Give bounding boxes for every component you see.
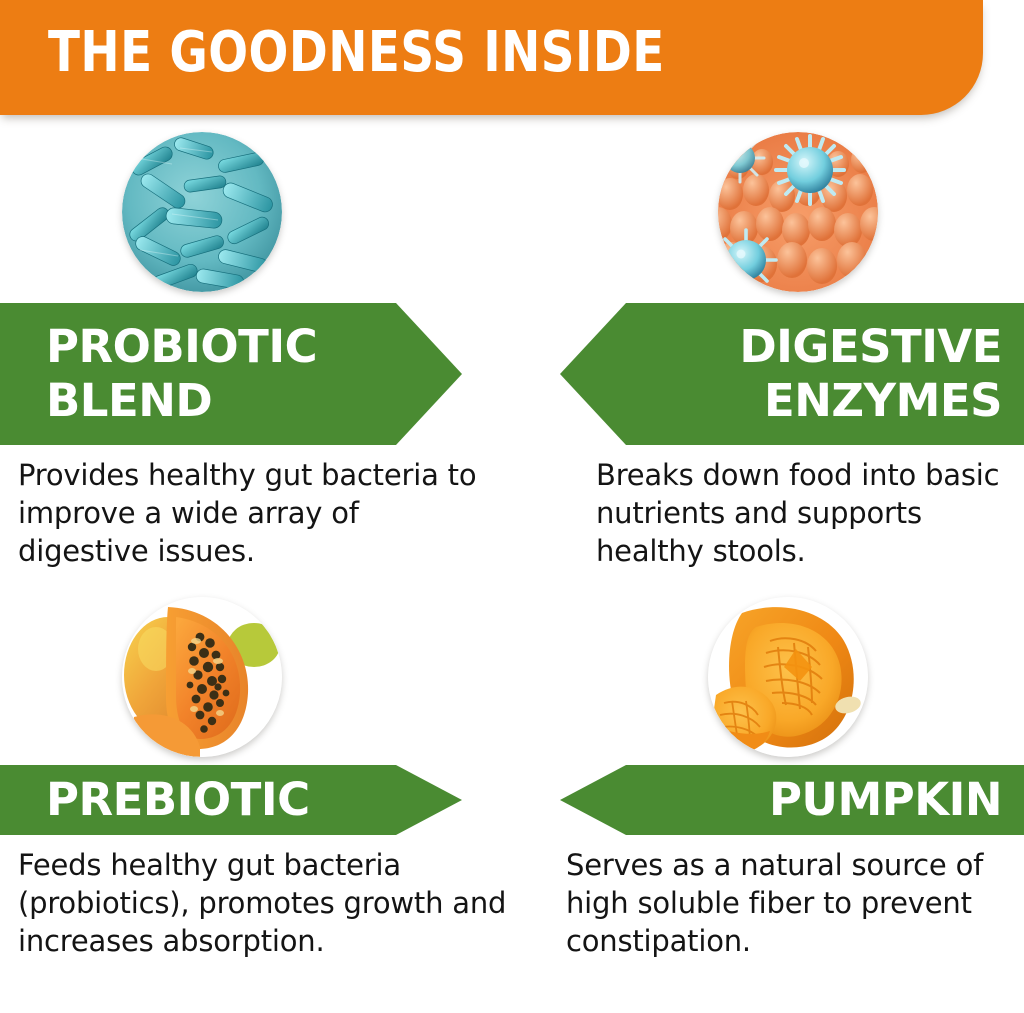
content-grid: PROBIOTIC BLEND Provides healthy gut bac… — [0, 0, 1024, 1013]
banner-prebiotic: PREBIOTIC — [0, 765, 462, 835]
banner-probiotic-blend: PROBIOTIC BLEND — [0, 303, 462, 445]
banner-label-probiotic-blend: PROBIOTIC BLEND — [0, 320, 317, 428]
probiotic-bacteria-image — [122, 132, 282, 292]
page-title: THE GOODNESS INSIDE — [48, 20, 665, 86]
banner-label-line-1: PROBIOTIC — [46, 320, 317, 374]
description-digestive-enzymes: Breaks down food into basic nutrients an… — [596, 456, 1024, 570]
description-probiotic-blend: Provides healthy gut bacteria to improve… — [18, 456, 488, 570]
banner-label-digestive-enzymes: DIGESTIVE ENZYMES — [739, 320, 1024, 428]
banner-label-pumpkin: PUMPKIN — [769, 773, 1024, 827]
banner-label-line-1: DIGESTIVE — [739, 320, 1002, 374]
banner-label-line-2: ENZYMES — [739, 374, 1002, 428]
papaya-image — [122, 597, 282, 757]
description-pumpkin: Serves as a natural source of high solub… — [566, 846, 1024, 960]
banner-label-prebiotic: PREBIOTIC — [0, 773, 310, 827]
header-banner: THE GOODNESS INSIDE — [0, 0, 983, 115]
digestive-enzymes-image — [718, 132, 878, 292]
banner-pumpkin: PUMPKIN — [560, 765, 1024, 835]
banner-label-line-2: BLEND — [46, 374, 317, 428]
banner-digestive-enzymes: DIGESTIVE ENZYMES — [560, 303, 1024, 445]
description-prebiotic: Feeds healthy gut bacteria (probiotics),… — [18, 846, 508, 960]
pumpkin-image — [708, 597, 868, 757]
